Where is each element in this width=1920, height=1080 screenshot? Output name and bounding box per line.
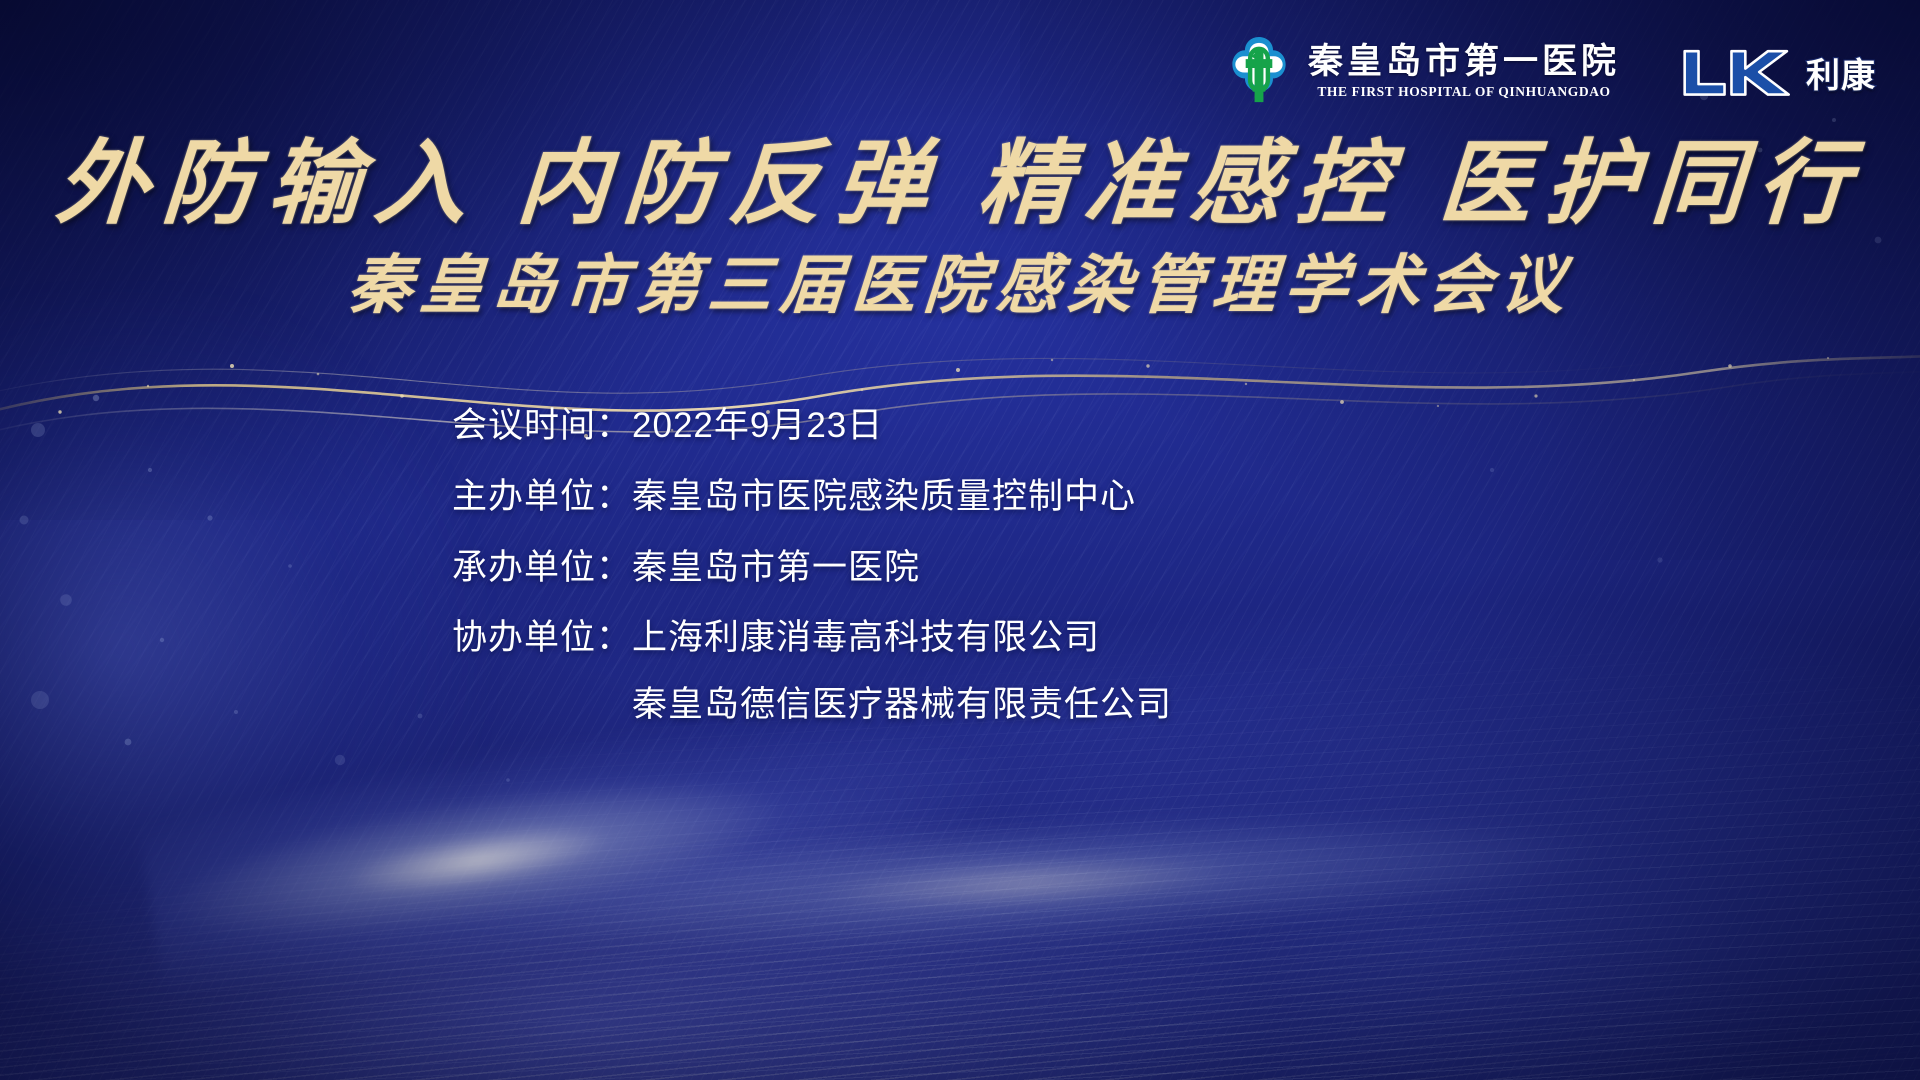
hospital-logo: 秦皇岛市第一医院 THE FIRST HOSPITAL OF QINHUANGD… [1222,34,1620,108]
partner-name-cn: 利康 [1806,48,1876,97]
info-label: 主办单位： [452,475,632,520]
info-value: 秦皇岛市医院感染质量控制中心 [632,475,1136,520]
conference-info: 会议时间： 2022年9月23日 主办单位： 秦皇岛市医院感染质量控制中心 承办… [452,404,1472,728]
info-row-time: 会议时间： 2022年9月23日 [452,404,1472,449]
info-row-host: 承办单位： 秦皇岛市第一医院 [452,546,1472,591]
logo-row: 秦皇岛市第一医院 THE FIRST HOSPITAL OF QINHUANGD… [1222,34,1876,108]
info-value: 秦皇岛市第一医院 [632,546,920,591]
info-values: 秦皇岛市医院感染质量控制中心 [632,475,1136,520]
clover-cross-hospital-logo-icon [1222,34,1296,108]
info-values: 秦皇岛市第一医院 [632,546,920,591]
info-values: 上海利康消毒高科技有限公司 秦皇岛德信医疗器械有限责任公司 [632,616,1172,728]
hospital-name-en: THE FIRST HOSPITAL OF QINHUANGDAO [1317,84,1610,100]
info-row-co-organizer: 协办单位： 上海利康消毒高科技有限公司 秦皇岛德信医疗器械有限责任公司 [452,616,1472,728]
info-value: 秦皇岛德信医疗器械有限责任公司 [632,683,1172,728]
hospital-wordmark: 秦皇岛市第一医院 THE FIRST HOSPITAL OF QINHUANGD… [1308,42,1620,100]
conference-banner: 秦皇岛市第一医院 THE FIRST HOSPITAL OF QINHUANGD… [0,0,1920,1080]
info-label: 协办单位： [452,616,632,661]
partner-logo: 利康 [1676,46,1876,98]
info-value: 2022年9月23日 [632,404,883,449]
hospital-name-cn: 秦皇岛市第一医院 [1308,42,1620,81]
lk-wordmark-icon [1676,46,1806,98]
info-value: 上海利康消毒高科技有限公司 [632,616,1172,661]
info-label: 会议时间： [452,404,632,449]
info-label: 承办单位： [452,546,632,591]
info-row-organizer: 主办单位： 秦皇岛市医院感染质量控制中心 [452,475,1472,520]
info-values: 2022年9月23日 [632,404,883,449]
